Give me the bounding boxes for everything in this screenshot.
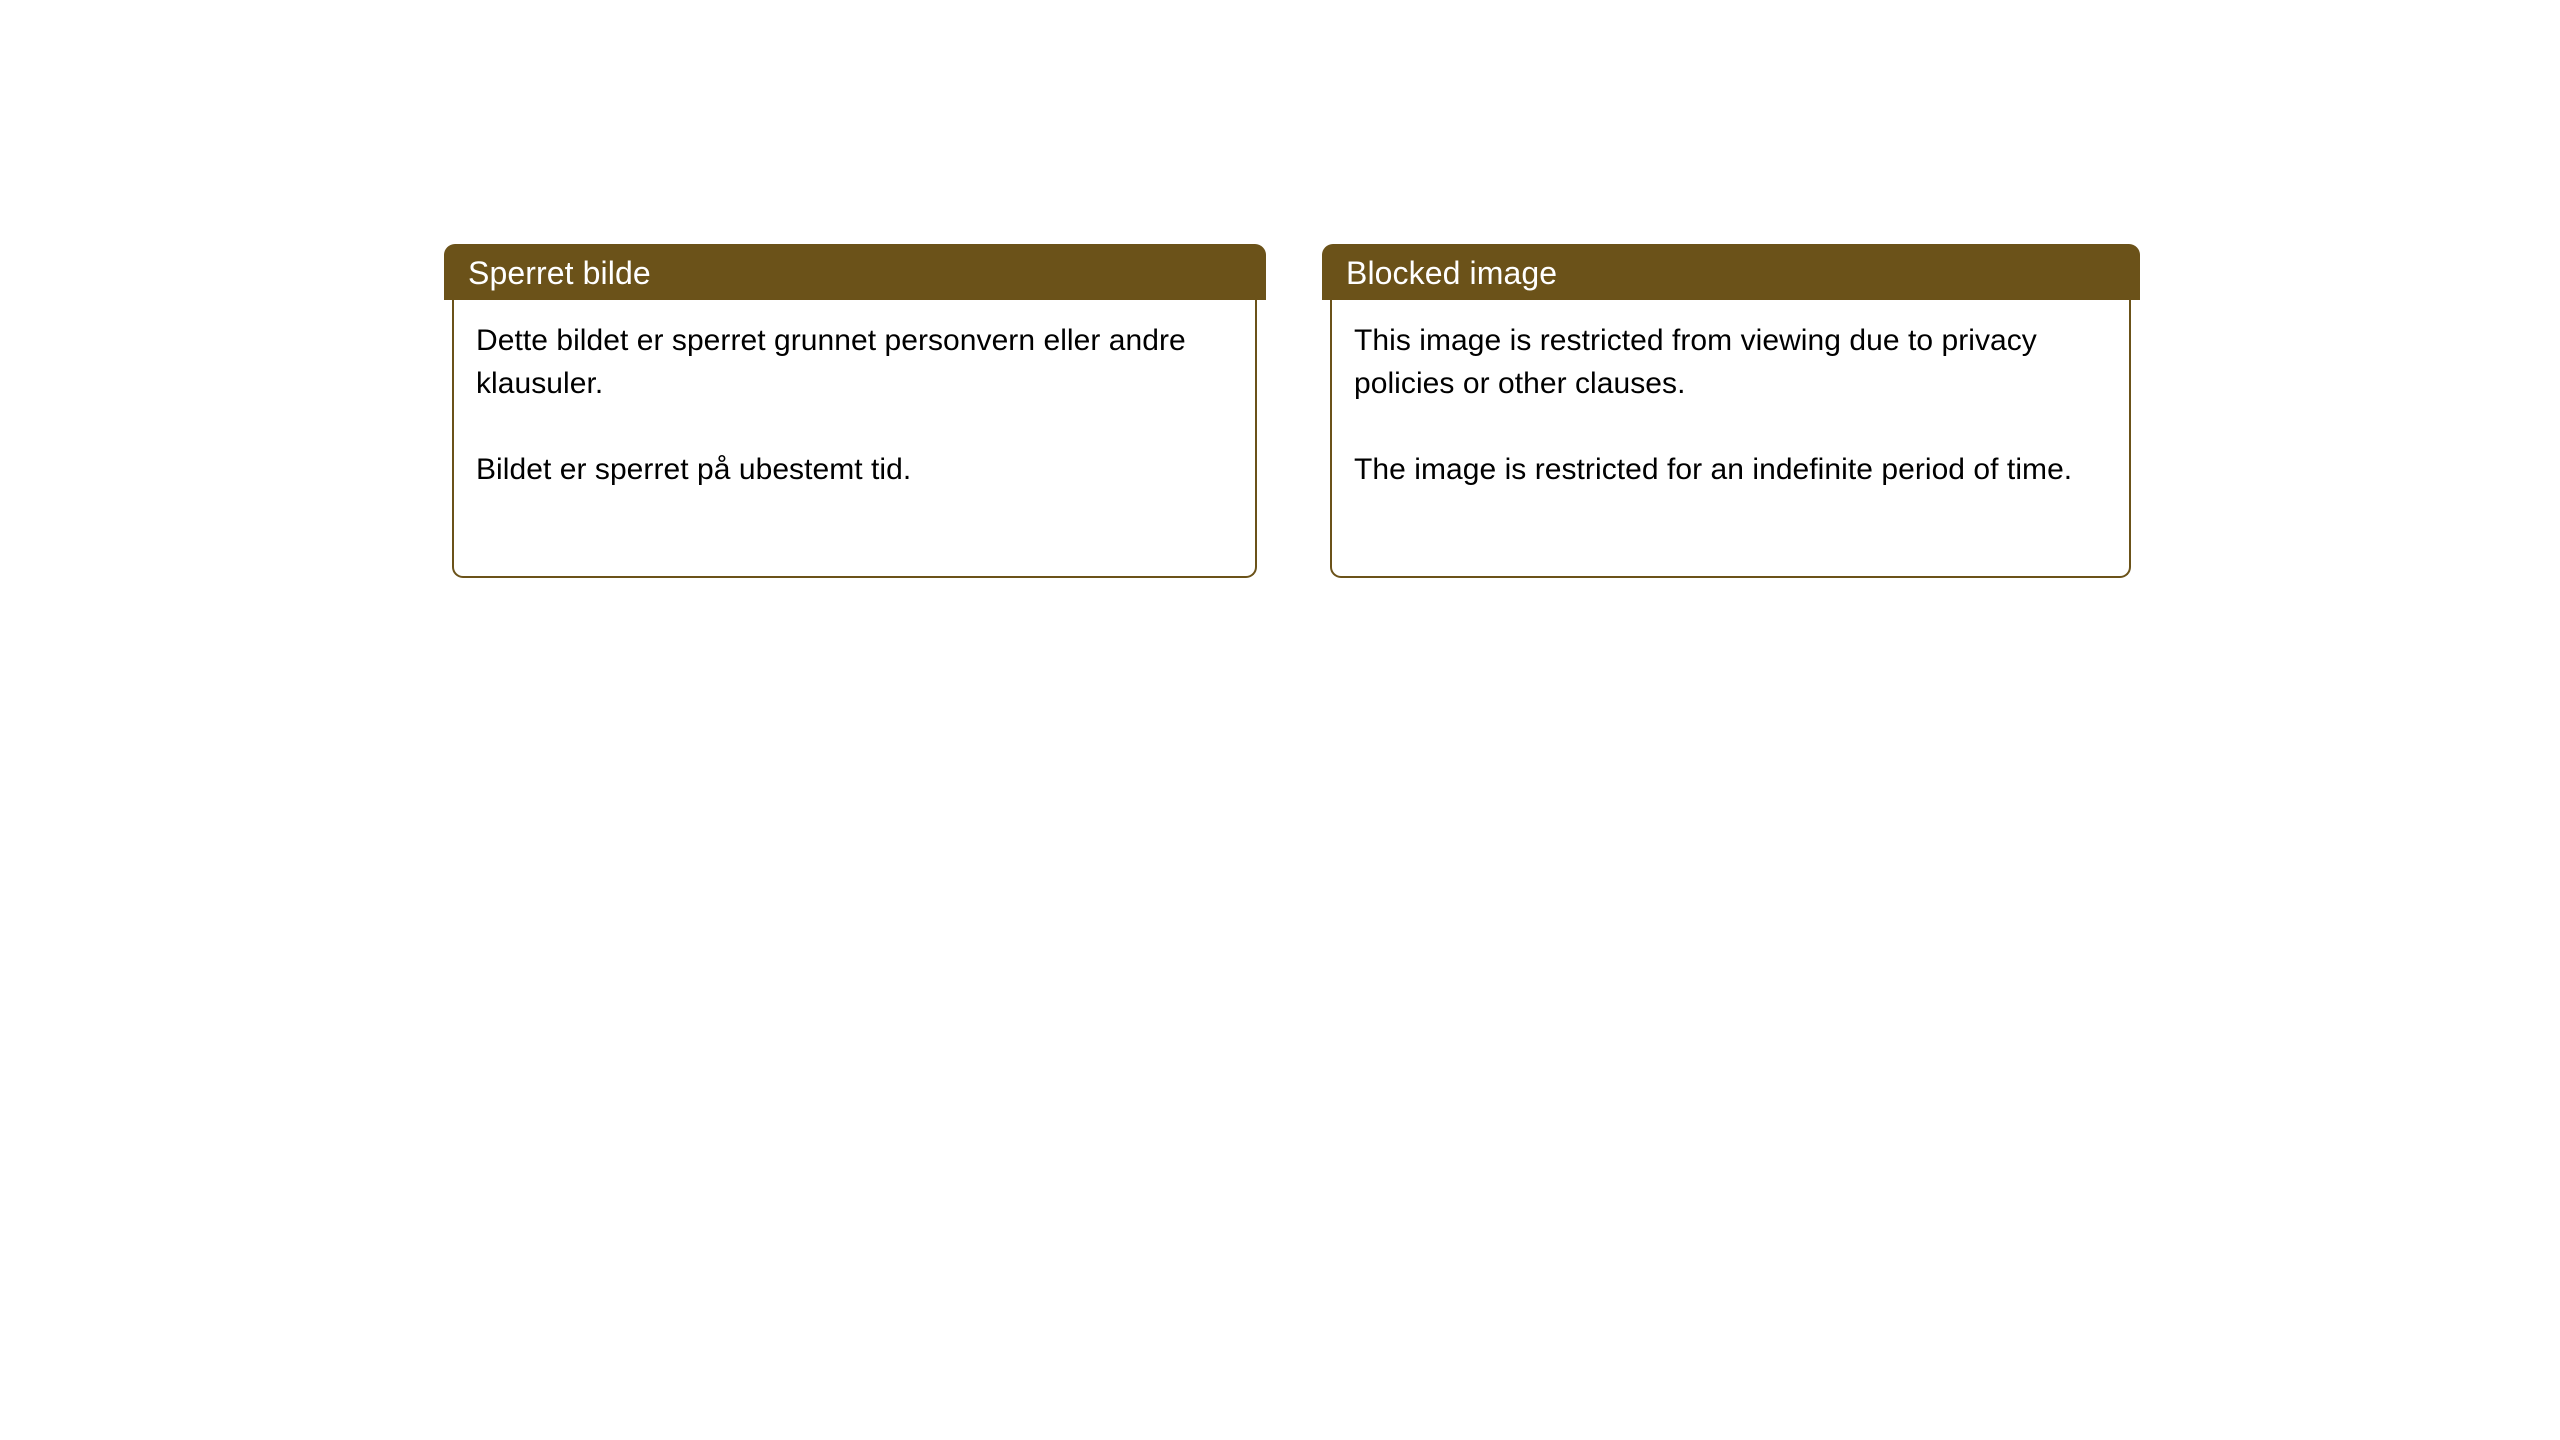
notice-title-en: Blocked image	[1346, 257, 1557, 289]
notice-body-no: Dette bildet er sperret grunnet personve…	[452, 299, 1257, 578]
notice-header-no: Sperret bilde	[444, 244, 1266, 300]
notice-paragraph-en-1: This image is restricted from viewing du…	[1354, 319, 2107, 405]
notice-paragraph-no-2: Bildet er sperret på ubestemt tid.	[476, 448, 1233, 491]
notice-body-en: This image is restricted from viewing du…	[1330, 299, 2131, 578]
page-canvas: Sperret bilde Dette bildet er sperret gr…	[0, 0, 2560, 1440]
blocked-image-notice-en: Blocked image This image is restricted f…	[1322, 244, 2140, 578]
blocked-image-notice-no: Sperret bilde Dette bildet er sperret gr…	[444, 244, 1266, 578]
notice-paragraph-no-1: Dette bildet er sperret grunnet personve…	[476, 319, 1233, 405]
notice-paragraph-en-2: The image is restricted for an indefinit…	[1354, 448, 2107, 491]
notice-title-no: Sperret bilde	[468, 257, 651, 289]
notice-header-en: Blocked image	[1322, 244, 2140, 300]
